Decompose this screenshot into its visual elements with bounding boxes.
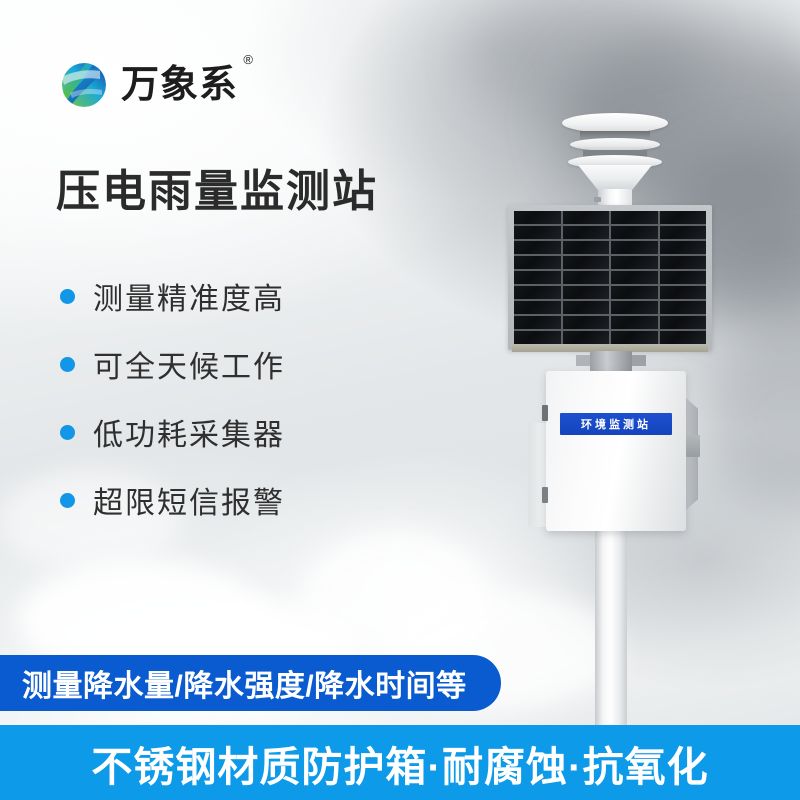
stainless-steel-enclosure	[546, 371, 686, 531]
list-item: 超限短信报警	[60, 466, 285, 534]
feature-list: 测量精准度高 可全天候工作 低功耗采集器 超限短信报警	[60, 262, 285, 534]
solar-panel	[508, 205, 712, 350]
feature-label: 低功耗采集器	[93, 410, 285, 454]
bullet-dot-icon	[60, 289, 75, 304]
bullet-dot-icon	[60, 493, 75, 508]
bullet-dot-icon	[60, 357, 75, 372]
enclosure-hinge	[542, 487, 548, 503]
sensor-top-cap	[562, 113, 668, 133]
enclosure-label-text: 环境监测站	[581, 416, 651, 432]
bottom-banner: 不锈钢材质防护箱·耐腐蚀·抗氧化	[0, 725, 800, 800]
globe-swirl-icon	[56, 57, 112, 113]
list-item: 测量精准度高	[60, 262, 285, 330]
enclosure-label-plate: 环境监测站	[560, 413, 672, 435]
feature-label: 可全天候工作	[93, 342, 285, 386]
solar-cell-grid	[514, 211, 706, 344]
brand-name: 万象系 ®	[121, 66, 238, 104]
sensor-screw	[594, 197, 601, 202]
bullet-dot-icon	[60, 425, 75, 440]
panel-bracket	[630, 355, 646, 366]
list-item: 低功耗采集器	[60, 398, 285, 466]
feature-label: 超限短信报警	[93, 478, 285, 522]
enclosure-hinge	[542, 405, 548, 421]
list-item: 可全天候工作	[60, 330, 285, 398]
sensor-cone	[578, 165, 652, 191]
feature-label: 测量精准度高	[93, 274, 285, 318]
product-image: 环境监测站	[490, 105, 750, 725]
rain-gauge-sensor-icon	[550, 105, 680, 215]
pill-banner-label: 测量降水量/降水强度/降水时间等	[22, 661, 467, 705]
brand-name-text: 万象系	[121, 64, 238, 106]
pill-banner: 测量降水量/降水强度/降水时间等	[0, 655, 501, 711]
page-title: 压电雨量监测站	[56, 168, 378, 216]
enclosure-latch	[686, 435, 700, 457]
bottom-banner-label: 不锈钢材质防护箱·耐腐蚀·抗氧化	[91, 733, 708, 793]
enclosure-left-wing	[528, 423, 548, 527]
brand-logo: 万象系 ®	[56, 57, 238, 113]
trademark-icon: ®	[243, 53, 254, 66]
product-poster: 环境监测站	[0, 0, 800, 800]
